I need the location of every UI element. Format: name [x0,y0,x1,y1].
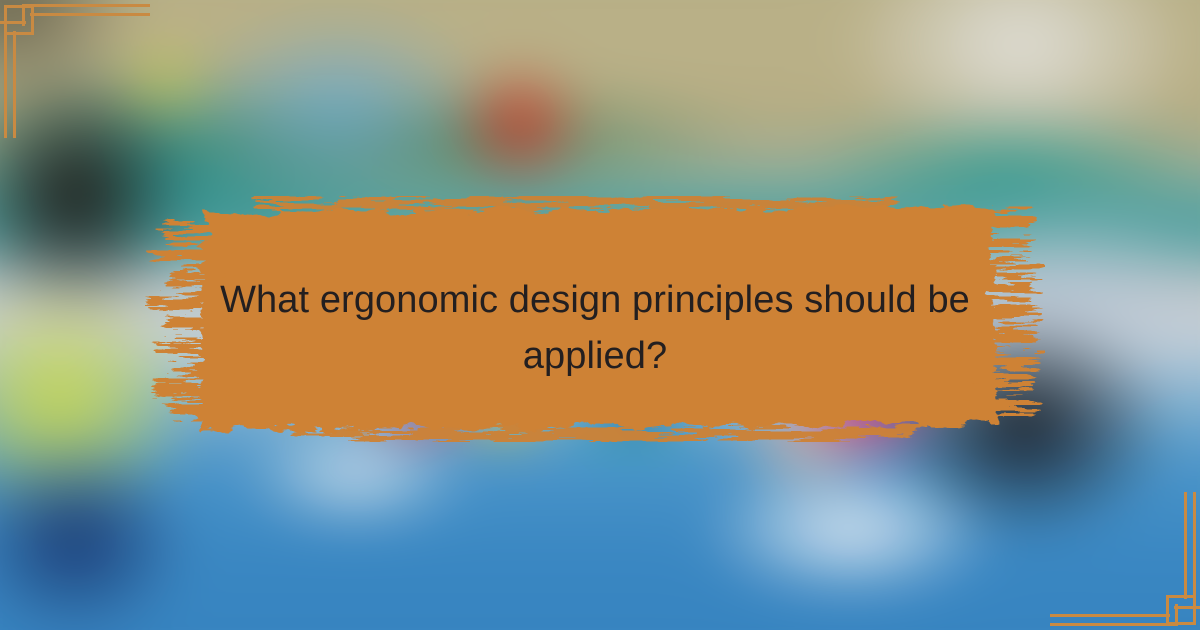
ornament-line-top-outer [24,4,150,7]
corner-ornament-top-left [0,0,150,150]
ornament-line-right-inner [1184,492,1187,599]
ornament-line-top-inner [30,13,150,16]
question-card: What ergonomic design principles should … [0,0,1200,630]
ornament-line-elbow [0,21,26,24]
ornament-line-elbow [1174,606,1200,609]
ornament-line-left-inner [13,31,16,138]
ornament-line-bottom-outer [1050,623,1176,626]
bg-blob-red-object [450,60,590,190]
ornament-line-bottom-inner [1050,614,1170,617]
ornament-line-left-outer [4,26,7,138]
ornament-line-right-outer [1193,492,1196,604]
corner-ornament-bottom-right [1050,480,1200,630]
bg-blob-blue-tent [190,10,490,200]
ornament-square-icon [1166,595,1196,625]
bg-blob-paper-right [700,460,1000,600]
page-title: What ergonomic design principles should … [190,272,1000,384]
ornament-square-icon [4,5,34,35]
